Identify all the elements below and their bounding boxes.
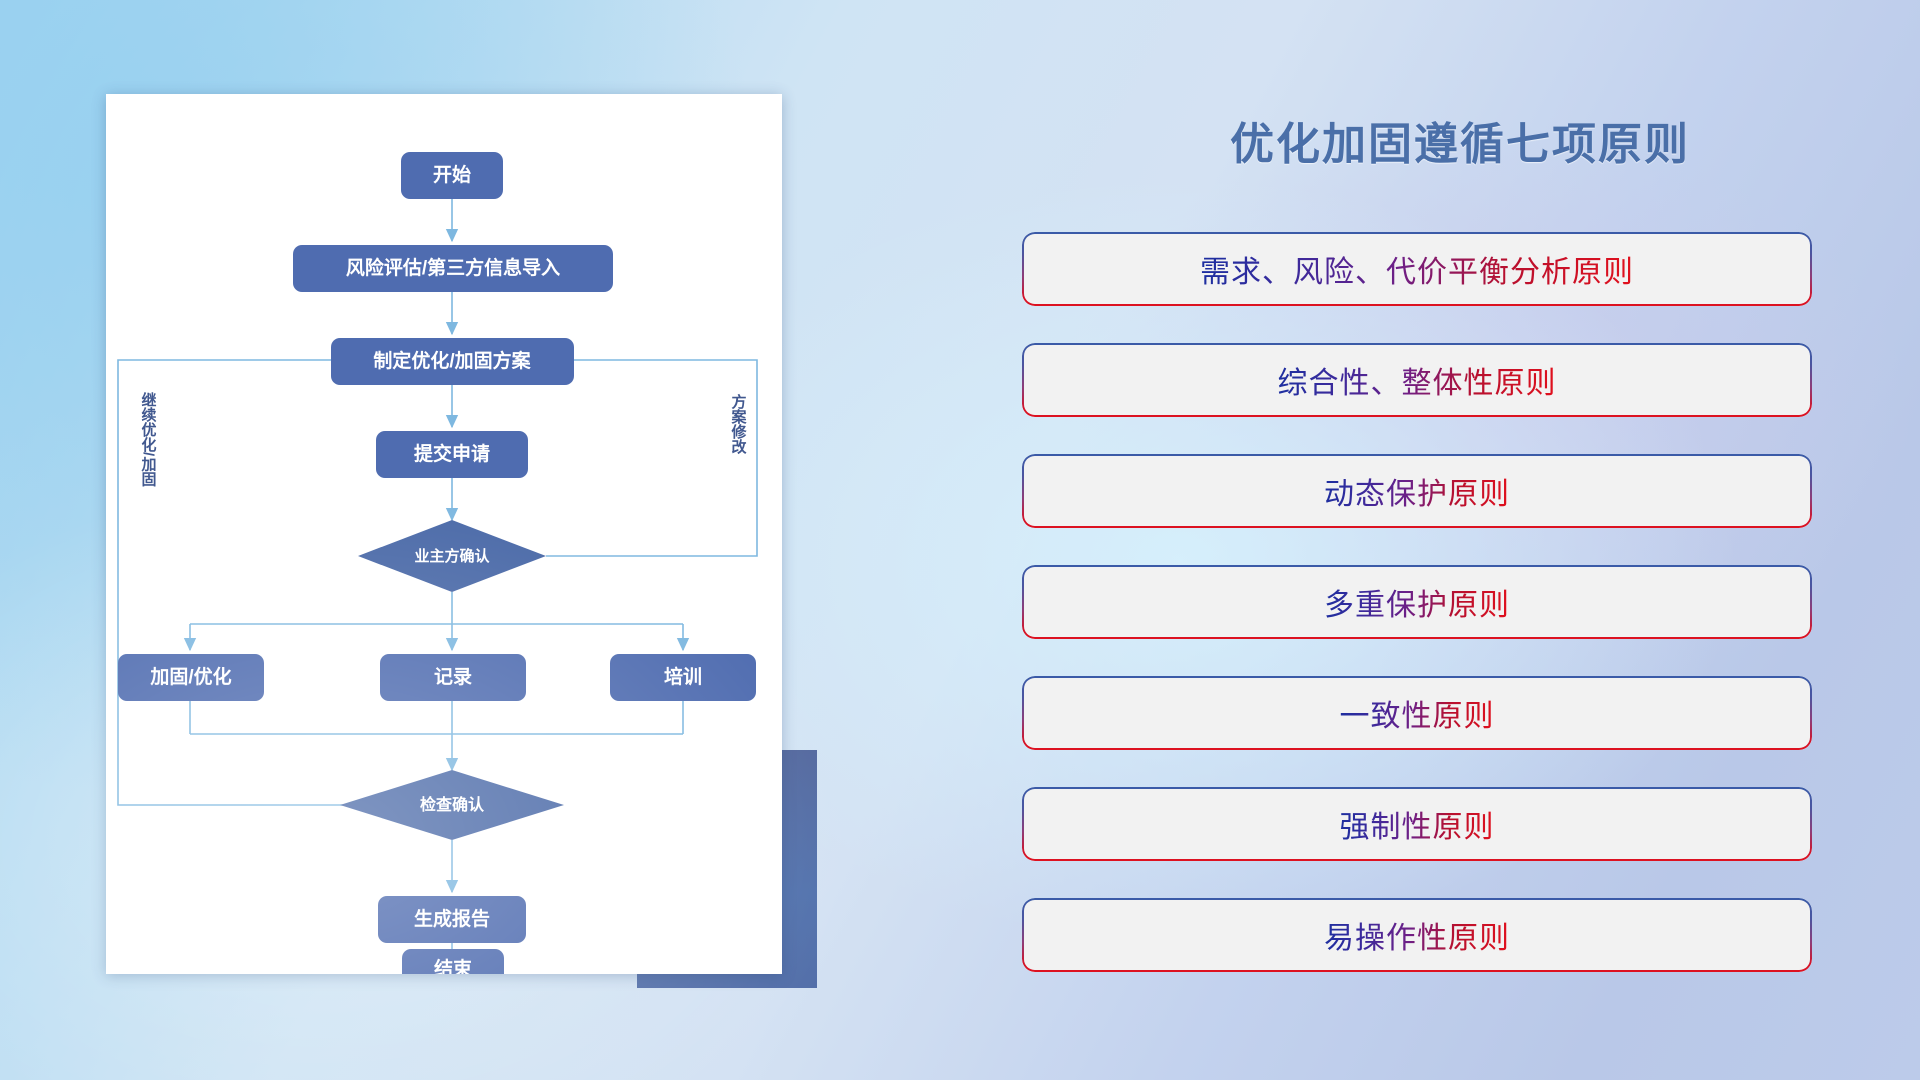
principle-item-6[interactable]: 强制性原则 [1022,787,1812,861]
edge-label-continue-optimize: 继续优化/加固 [140,391,158,487]
flow-node-submit-label: 提交申请 [414,442,490,465]
flow-node-report-label: 生成报告 [414,907,490,930]
flow-node-check-label: 检查确认 [420,795,485,814]
principle-item-7[interactable]: 易操作性原则 [1022,898,1812,972]
principle-label: 强制性原则 [1340,802,1495,846]
principle-label: 易操作性原则 [1324,913,1510,957]
principle-item-2[interactable]: 综合性、整体性原则 [1022,343,1812,417]
flowchart-card: 开始 风险评估/第三方信息导入 制定优化/加固方案 提交申请 业主方确认 加固/… [106,94,782,974]
flow-node-start-label: 开始 [433,163,471,186]
principles-list: 需求、风险、代价平衡分析原则 综合性、整体性原则 动态保护原则 多重保护原则 一… [1022,232,1812,1009]
flow-node-reinforce-label: 加固/优化 [149,665,231,688]
flow-node-end-label: 结束 [434,957,473,974]
slide-canvas: 开始 风险评估/第三方信息导入 制定优化/加固方案 提交申请 业主方确认 加固/… [0,0,1920,1080]
principle-item-5[interactable]: 一致性原则 [1022,676,1812,750]
flowchart-svg: 开始 风险评估/第三方信息导入 制定优化/加固方案 提交申请 业主方确认 加固/… [106,94,782,974]
panel-title: 优化加固遵循七项原则 [1000,108,1920,172]
principle-label: 一致性原则 [1340,691,1495,735]
principles-panel: 优化加固遵循七项原则 需求、风险、代价平衡分析原则 综合性、整体性原则 动态保护… [1000,0,1920,1080]
flow-node-record-label: 记录 [434,666,472,688]
flow-node-training-label: 培训 [664,665,702,688]
principle-label: 动态保护原则 [1324,469,1510,513]
flow-node-owner-confirm-label: 业主方确认 [414,547,490,565]
principle-item-1[interactable]: 需求、风险、代价平衡分析原则 [1022,232,1812,306]
principle-label: 综合性、整体性原则 [1278,358,1557,402]
principle-label: 多重保护原则 [1324,580,1510,624]
flow-node-assess-label: 风险评估/第三方信息导入 [346,256,560,279]
principle-item-3[interactable]: 动态保护原则 [1022,454,1812,528]
principle-item-4[interactable]: 多重保护原则 [1022,565,1812,639]
flow-node-plan-label: 制定优化/加固方案 [373,349,531,372]
principle-label: 需求、风险、代价平衡分析原则 [1200,247,1634,291]
edge-label-plan-revision: 方案修改 [730,393,748,455]
